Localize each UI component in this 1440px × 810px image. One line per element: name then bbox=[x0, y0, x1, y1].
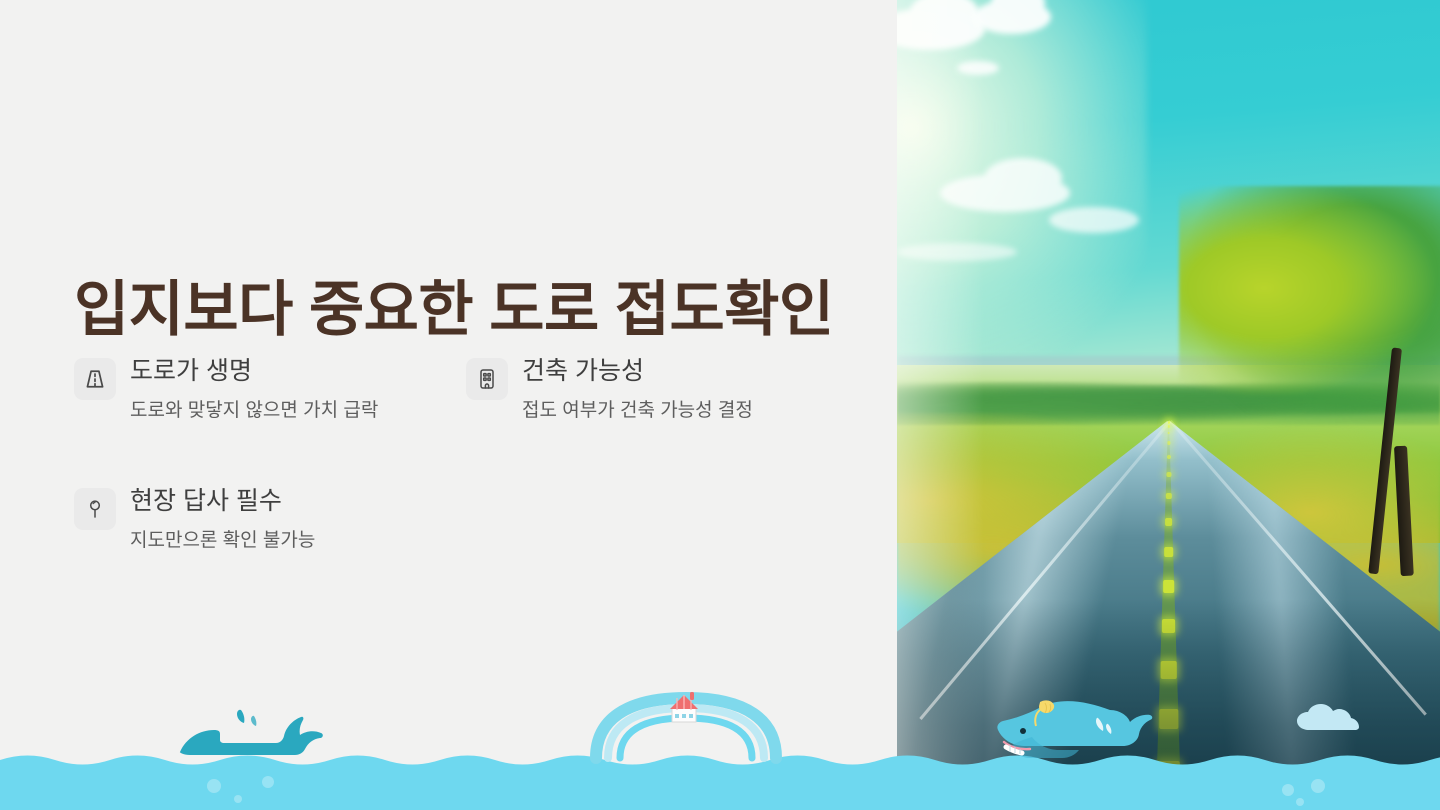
feature-title: 도로가 생명 bbox=[130, 356, 378, 387]
photo-road-marker bbox=[1163, 580, 1175, 592]
photo-cloud bbox=[957, 61, 999, 75]
feature-item-site-visit: 현장 답사 필수 지도만으론 확인 불가능 bbox=[74, 486, 466, 554]
building-icon bbox=[466, 358, 508, 400]
rainbow-bridge-with-house bbox=[586, 690, 786, 760]
photo-cloud bbox=[1049, 207, 1139, 233]
mini-cloud bbox=[1295, 704, 1369, 732]
whale-silhouette-left bbox=[178, 700, 338, 762]
feature-text-buildability: 건축 가능성 접도 여부가 건축 가능성 결정 bbox=[522, 356, 753, 424]
photo-cloud bbox=[940, 174, 1070, 212]
photo-road-marker bbox=[1164, 547, 1174, 557]
photo-road-marker bbox=[1167, 432, 1170, 435]
map-pin-icon bbox=[74, 488, 116, 530]
photo-cloud bbox=[973, 0, 1051, 34]
photo-road-marker bbox=[1165, 518, 1173, 526]
left-content-panel: 입지보다 중요한 도로 접도확인 도로가 생명 도로와 맞닿지 않으면 가치 급… bbox=[0, 0, 897, 810]
feature-desc: 지도만으론 확인 불가능 bbox=[130, 529, 315, 554]
road-icon bbox=[74, 358, 116, 400]
feature-item-road: 도로가 생명 도로와 맞닿지 않으면 가치 급락 bbox=[74, 356, 466, 424]
feature-title: 현장 답사 필수 bbox=[130, 486, 315, 517]
photo-road-marker bbox=[1165, 493, 1171, 500]
photo-road-marker bbox=[1166, 472, 1171, 477]
feature-item-buildability: 건축 가능성 접도 여부가 건축 가능성 결정 bbox=[466, 356, 834, 424]
cartoon-whale-right bbox=[990, 694, 1190, 770]
countryside-road-photo bbox=[897, 0, 1440, 810]
feature-desc: 도로와 맞닿지 않으면 가치 급락 bbox=[130, 399, 378, 424]
photo-large-tree-canopy bbox=[1179, 186, 1440, 413]
slide-canvas: 입지보다 중요한 도로 접도확인 도로가 생명 도로와 맞닿지 않으면 가치 급… bbox=[0, 0, 1440, 810]
feature-text-road: 도로가 생명 도로와 맞닿지 않으면 가치 급락 bbox=[130, 356, 378, 424]
feature-desc: 접도 여부가 건축 가능성 결정 bbox=[522, 399, 753, 424]
feature-list: 도로가 생명 도로와 맞닿지 않으면 가치 급락 bbox=[74, 356, 834, 554]
photo-cloud bbox=[897, 243, 1017, 261]
feature-title: 건축 가능성 bbox=[522, 356, 753, 387]
feature-text-site-visit: 현장 답사 필수 지도만으론 확인 불가능 bbox=[130, 486, 315, 554]
page-title: 입지보다 중요한 도로 접도확인 bbox=[74, 273, 834, 346]
